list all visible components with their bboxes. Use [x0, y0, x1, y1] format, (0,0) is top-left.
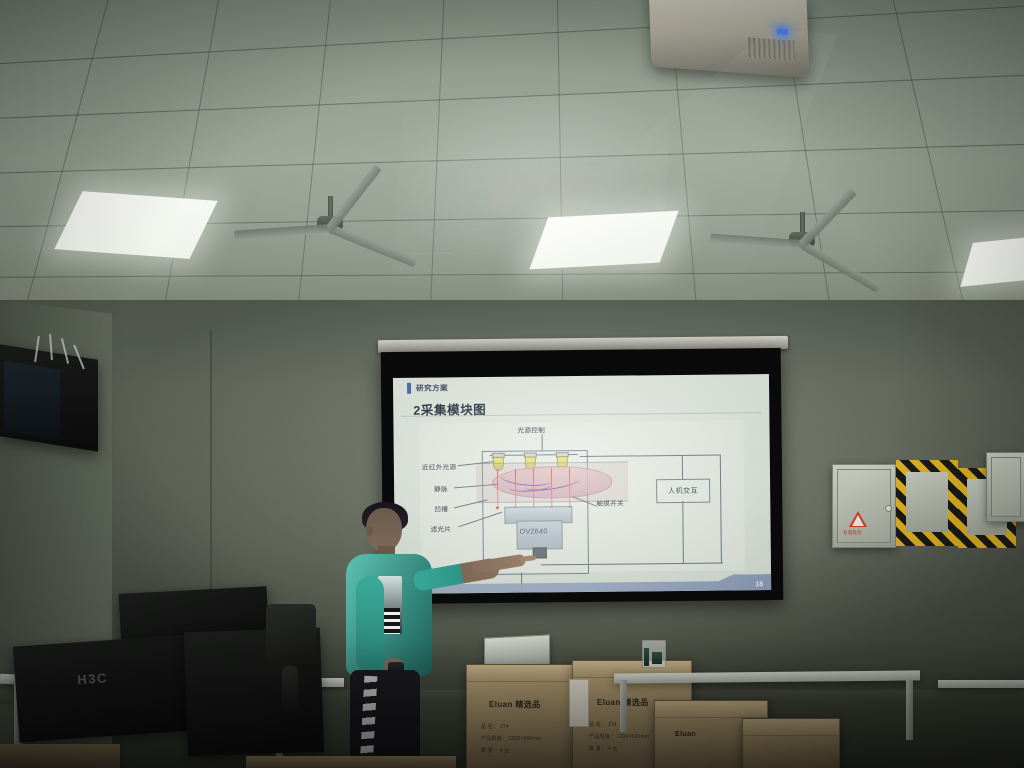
diagram-label-light-source-control: 光源控制	[517, 424, 545, 434]
table-leg	[906, 680, 913, 740]
panel-face	[906, 472, 948, 532]
hazard-striped-panel	[896, 460, 958, 546]
ceiling-light-panel	[54, 191, 218, 259]
ceiling-light-panel	[529, 211, 678, 270]
wooden-desk-top	[0, 744, 120, 768]
electrical-panel-box[interactable]: 有电危险	[832, 464, 896, 548]
carton-flaps	[467, 665, 581, 682]
camera-module-label: OV2640	[520, 528, 548, 535]
wire	[720, 455, 722, 563]
carton-brand-label: Eluan 精选品	[489, 699, 541, 710]
projector-mount	[700, 0, 712, 6]
monitor-back: H3C	[13, 633, 209, 742]
wire	[580, 455, 720, 457]
wire	[682, 501, 684, 563]
carton-flaps	[655, 701, 767, 718]
speaker-face	[4, 361, 60, 440]
classroom-scene: ▬▬▬▬▬ ▬▬▬ ▬▬	[0, 0, 1024, 768]
carton-brand-label: Eluan	[675, 731, 696, 738]
ear	[366, 526, 373, 536]
diagram-label-vein: 静脉	[434, 483, 448, 493]
ceiling-fan	[240, 196, 420, 276]
panel-lock-knob[interactable]	[885, 505, 892, 512]
electrical-panel-box[interactable]	[986, 452, 1024, 522]
chair-post	[282, 666, 298, 712]
lab-table-top	[938, 680, 1024, 688]
circuit-board	[652, 652, 662, 664]
electrical-hazard-text: 有电危险	[843, 530, 862, 536]
slide-header-text: 研究方案	[416, 382, 448, 393]
carton-spec-line: 品 名： JT4	[589, 721, 617, 728]
wire	[682, 455, 683, 479]
slide-reflection-on-ceiling: ▬▬▬▬▬ ▬▬▬ ▬▬	[391, 91, 672, 278]
carton-spec-line: 产品规格： 1200×600mm	[481, 735, 541, 742]
carton-spec-line: 数 量： 4 台	[589, 745, 618, 752]
circuit-board	[644, 648, 649, 666]
monitor-brand-logo: H3C	[77, 670, 108, 687]
projector	[649, 0, 810, 78]
shipping-label	[569, 679, 589, 727]
header-accent-bar	[407, 383, 411, 394]
projector-power-led	[777, 28, 788, 35]
cardboard-carton	[742, 718, 840, 768]
ceiling-fan	[712, 212, 892, 292]
panel-door[interactable]	[991, 457, 1021, 517]
leader-line	[542, 434, 543, 450]
carton-spec-line: 产品规格： 1200×600mm	[589, 733, 649, 740]
cardboard-carton: Eluan 精选品 品 名： JT4 产品规格： 1200×600mm 数 量：…	[466, 664, 582, 768]
diagram-label-touch-switch: 触摸开关	[596, 498, 624, 508]
ceiling-light-panel	[960, 233, 1024, 287]
carton-spec-line: 品 名： JT4	[481, 723, 509, 730]
hmi-label: 人机交互	[668, 486, 698, 496]
slide-page-number: 18	[755, 581, 763, 588]
office-chair	[266, 604, 316, 670]
table-leg	[620, 680, 627, 732]
carton-flaps	[743, 719, 839, 736]
hmi-box: 人机交互	[656, 479, 710, 504]
diagram-label-nir-light-source: 近红外光源	[422, 461, 457, 471]
left-arm	[356, 576, 384, 672]
wall-speaker-unit	[0, 344, 98, 452]
slide-header: 研究方案	[407, 382, 448, 393]
projector-vent	[748, 37, 795, 60]
ceiling: ▬▬▬▬▬ ▬▬▬ ▬▬	[0, 0, 1024, 330]
electrical-hazard-icon	[849, 511, 867, 527]
wooden-desk-top	[246, 756, 456, 768]
carton-spec-line: 数 量： 4 台	[481, 747, 510, 754]
